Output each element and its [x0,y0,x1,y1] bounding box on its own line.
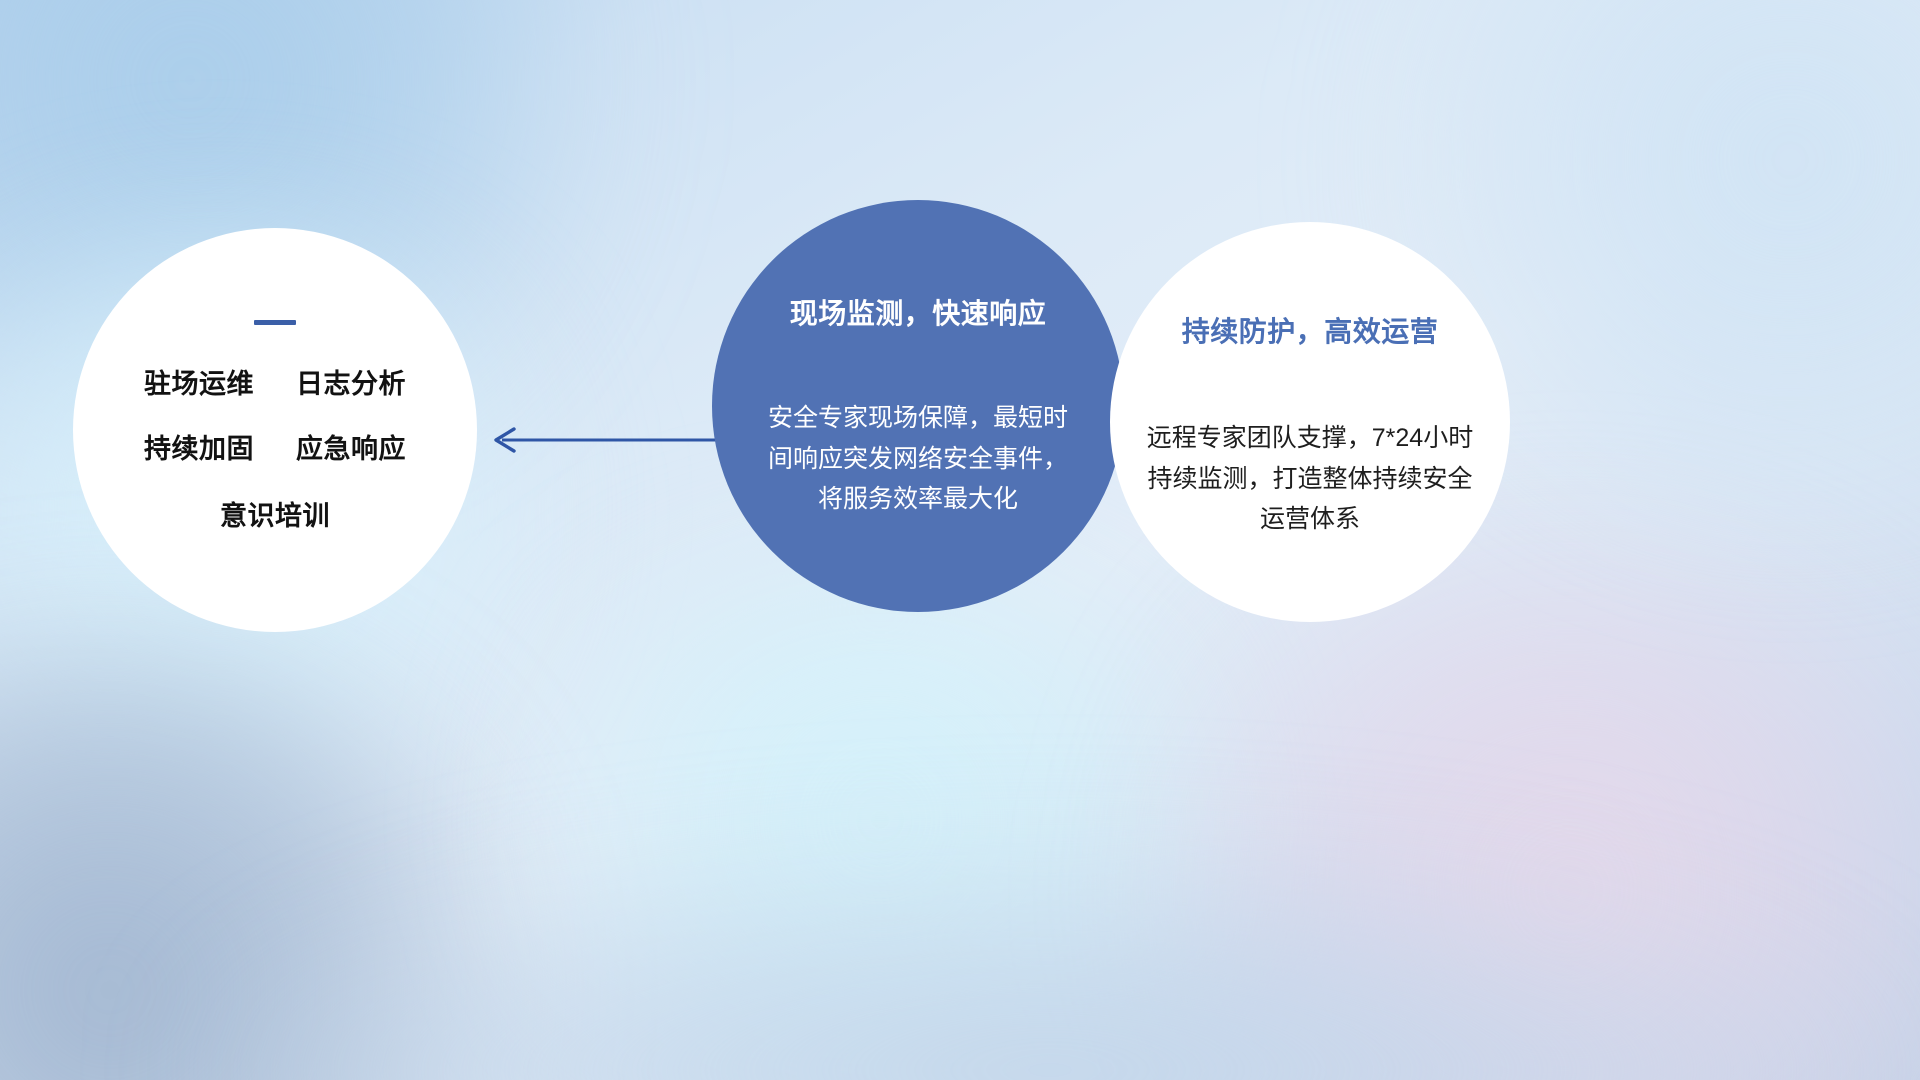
capability-item-log-analysis: 日志分析 [296,369,406,399]
circle-capability-summary-content: 驻场运维 日志分析 持续加固 应急响应 意识培训 [73,228,477,530]
circle-continuous-protection-title: 持续防护，高效运营 [1110,310,1510,350]
capability-row-1: 驻场运维 日志分析 [73,371,477,398]
connector-arrow [480,418,730,462]
capability-row-3: 意识培训 [73,503,477,530]
circle-onsite-monitoring-title: 现场监测，快速响应 [712,292,1124,332]
capability-item-continuous-hardening: 持续加固 [144,434,254,464]
arrow-left-icon [480,418,730,462]
divider-dash-icon [254,320,296,325]
capability-item-emergency-response: 应急响应 [296,434,406,464]
circle-capability-summary[interactable]: 驻场运维 日志分析 持续加固 应急响应 意识培训 [73,228,477,632]
slide-canvas: 现场监测，快速响应 安全专家现场保障，最短时间响应突发网络安全事件，将服务效率最… [0,0,1920,1080]
capability-item-awareness-training: 意识培训 [220,501,330,531]
circle-onsite-monitoring[interactable]: 现场监测，快速响应 安全专家现场保障，最短时间响应突发网络安全事件，将服务效率最… [712,200,1124,612]
circle-onsite-monitoring-content: 现场监测，快速响应 安全专家现场保障，最短时间响应突发网络安全事件，将服务效率最… [712,200,1124,520]
circle-continuous-protection-body: 远程专家团队支撑，7*24小时持续监测，打造整体持续安全运营体系 [1138,418,1482,540]
circle-onsite-monitoring-body: 安全专家现场保障，最短时间响应突发网络安全事件，将服务效率最大化 [768,398,1068,520]
capability-item-onsite-ops: 驻场运维 [144,369,254,399]
circle-continuous-protection[interactable]: 持续防护，高效运营 远程专家团队支撑，7*24小时持续监测，打造整体持续安全运营… [1110,222,1510,622]
circle-continuous-protection-content: 持续防护，高效运营 远程专家团队支撑，7*24小时持续监测，打造整体持续安全运营… [1110,222,1510,540]
capability-row-2: 持续加固 应急响应 [73,436,477,463]
